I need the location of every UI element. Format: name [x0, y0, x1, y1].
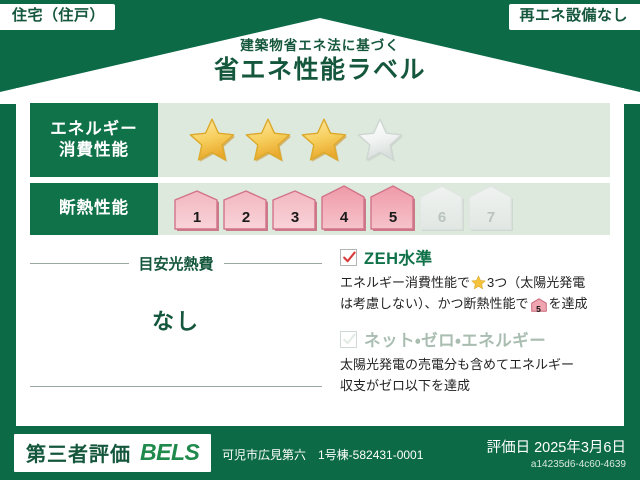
badge-building-type: 住宅（住戸） — [0, 4, 115, 30]
house-icon-filled: 3 — [272, 190, 318, 232]
zeh-desc-part2: は考慮しない）、かつ断熱性能で — [340, 296, 529, 311]
checkmark-icon — [342, 250, 357, 265]
house-level-number: 2 — [223, 209, 269, 226]
house-icon-level: 5 — [531, 303, 547, 317]
label-card: エネルギー 消費性能 断熱性能 1234567 目安光熱費 なし — [16, 88, 624, 426]
star-icon-filled — [188, 116, 236, 164]
title-main: 省エネ性能ラベル — [0, 56, 640, 85]
badge-renewable-equipment: 再エネ設備なし — [509, 4, 640, 30]
bels-jp-label: 第三者評価 — [26, 438, 131, 467]
netzero-desc-line2: 収支がゼロ以下を達成 — [340, 378, 470, 393]
insulation-performance-tag: 断熱性能 — [30, 183, 158, 235]
zeh-heading: ZEH水準 — [340, 245, 610, 269]
netzero-desc-line1: 太陽光発電の売電分も含めてエネルギー — [340, 357, 574, 372]
bels-en-label: BELS — [140, 439, 199, 466]
netzero-heading: ネット・ゼロ・エネルギー — [340, 327, 610, 351]
utility-cost-column: 目安光熱費 なし — [30, 245, 322, 413]
house-level-number: 7 — [468, 209, 514, 226]
insulation-tag-label: 断熱性能 — [59, 198, 129, 219]
zeh-desc-part1: エネルギー消費性能で — [340, 275, 470, 290]
insulation-performance-row: 断熱性能 1234567 — [30, 183, 610, 235]
house-icon-filled: 5 — [370, 185, 416, 232]
house-level-number: 5 — [370, 209, 416, 226]
star-rating — [158, 103, 610, 177]
energy-performance-label: 住宅（住戸） 再エネ設備なし 建築物省エネ法に基づく 省エネ性能ラベル エネルギ… — [0, 0, 640, 480]
zeh-standard-block: ZEH水準 エネルギー消費性能で3つ（太陽光発電 は考慮しない）、かつ断熱性能で… — [340, 245, 610, 318]
utility-cost-label: 目安光熱費 — [129, 253, 224, 274]
evaluation-info: 評価日 2025年3月6日 a14235d6-4c60-4639 — [487, 436, 626, 470]
star-icon-empty — [356, 116, 404, 164]
rule-right — [224, 263, 323, 264]
property-address: 可児市広見第六 1号棟-582431-0001 — [222, 446, 423, 463]
rule-left — [30, 263, 129, 264]
energy-performance-tag: エネルギー 消費性能 — [30, 103, 158, 177]
house-level-number: 1 — [174, 209, 220, 226]
house-level-number: 3 — [272, 209, 318, 226]
energy-tag-line2: 消費性能 — [59, 140, 129, 161]
house-icon-filled: 4 — [321, 185, 367, 232]
netzero-title: ネット・ゼロ・エネルギー — [364, 327, 546, 351]
house-level-number: 4 — [321, 209, 367, 226]
house-icon-filled: 1 — [174, 190, 220, 232]
utility-cost-heading: 目安光熱費 — [30, 253, 322, 274]
netzero-checkbox[interactable] — [340, 331, 357, 348]
utility-cost-value: なし — [30, 304, 322, 336]
label-title: 建築物省エネ法に基づく 省エネ性能ラベル — [0, 38, 640, 85]
zeh-desc-part3: を達成 — [549, 296, 588, 311]
evaluation-id: a14235d6-4c60-4639 — [487, 459, 626, 470]
energy-performance-row: エネルギー 消費性能 — [30, 103, 610, 177]
bels-logo: 第三者評価 BELS — [14, 434, 211, 472]
zeh-description: エネルギー消費性能で3つ（太陽光発電 は考慮しない）、かつ断熱性能で5を達成 — [340, 272, 610, 318]
netzero-standard-block: ネット・ゼロ・エネルギー 太陽光発電の売電分も含めてエネルギー 収支がゼロ以下を… — [340, 327, 610, 396]
zeh-checkbox[interactable] — [340, 249, 357, 266]
footer-bar: 第三者評価 BELS 可児市広見第六 1号棟-582431-0001 評価日 2… — [0, 428, 640, 480]
house-icon-filled: 2 — [223, 190, 269, 232]
star-icon-inline — [471, 275, 486, 290]
netzero-description: 太陽光発電の売電分も含めてエネルギー 収支がゼロ以下を達成 — [340, 354, 610, 396]
house-level-number: 6 — [419, 209, 465, 226]
star-icon-filled — [300, 116, 348, 164]
house-icon-empty: 7 — [468, 185, 514, 232]
utility-cost-bottom-rule — [30, 386, 322, 387]
checkmark-icon-faded — [342, 332, 357, 347]
insulation-scale: 1234567 — [158, 183, 610, 235]
title-subtitle: 建築物省エネ法に基づく — [0, 38, 640, 54]
standards-column: ZEH水準 エネルギー消費性能で3つ（太陽光発電 は考慮しない）、かつ断熱性能で… — [322, 245, 610, 413]
zeh-title: ZEH水準 — [364, 245, 433, 269]
house-icon-inline: 5 — [531, 297, 547, 318]
house-icon-empty: 6 — [419, 185, 465, 232]
lower-section: 目安光熱費 なし ZEH水準 — [30, 245, 610, 413]
zeh-desc-starcount: 3つ（太陽光発電 — [487, 275, 585, 290]
energy-tag-line1: エネルギー — [50, 119, 138, 140]
evaluation-date: 評価日 2025年3月6日 — [487, 436, 626, 457]
star-icon-filled — [244, 116, 292, 164]
